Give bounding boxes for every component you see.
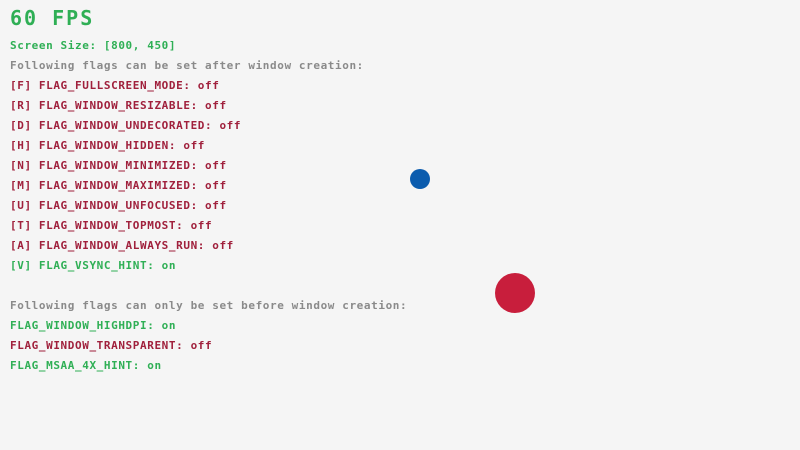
red-circle [495, 273, 535, 313]
flag-row-window-resizable[interactable]: [R] FLAG_WINDOW_RESIZABLE: off [10, 100, 227, 111]
flag-row-vsync-hint[interactable]: [V] FLAG_VSYNC_HINT: on [10, 260, 176, 271]
fps-counter: 60 FPS [10, 8, 94, 28]
flag-row-fullscreen-mode[interactable]: [F] FLAG_FULLSCREEN_MODE: off [10, 80, 219, 91]
flag-row-window-always-run[interactable]: [A] FLAG_WINDOW_ALWAYS_RUN: off [10, 240, 234, 251]
flag-row-window-unfocused[interactable]: [U] FLAG_WINDOW_UNFOCUSED: off [10, 200, 227, 211]
flag-row-window-topmost[interactable]: [T] FLAG_WINDOW_TOPMOST: off [10, 220, 212, 231]
flag-row-window-highdpi: FLAG_WINDOW_HIGHDPI: on [10, 320, 176, 331]
flag-row-msaa-4x-hint: FLAG_MSAA_4X_HINT: on [10, 360, 162, 371]
runtime-flags-header: Following flags can be set after window … [10, 60, 364, 71]
screen-size-label: Screen Size: [800, 450] [10, 40, 176, 51]
flag-row-window-undecorated[interactable]: [D] FLAG_WINDOW_UNDECORATED: off [10, 120, 241, 131]
flag-row-window-hidden[interactable]: [H] FLAG_WINDOW_HIDDEN: off [10, 140, 205, 151]
flag-row-window-minimized[interactable]: [N] FLAG_WINDOW_MINIMIZED: off [10, 160, 227, 171]
flag-row-window-transparent: FLAG_WINDOW_TRANSPARENT: off [10, 340, 212, 351]
creation-flags-header: Following flags can only be set before w… [10, 300, 407, 311]
blue-circle [410, 169, 430, 189]
flag-row-window-maximized[interactable]: [M] FLAG_WINDOW_MAXIMIZED: off [10, 180, 227, 191]
raylib-window-flags-demo: 60 FPS Screen Size: [800, 450] Following… [0, 0, 800, 450]
